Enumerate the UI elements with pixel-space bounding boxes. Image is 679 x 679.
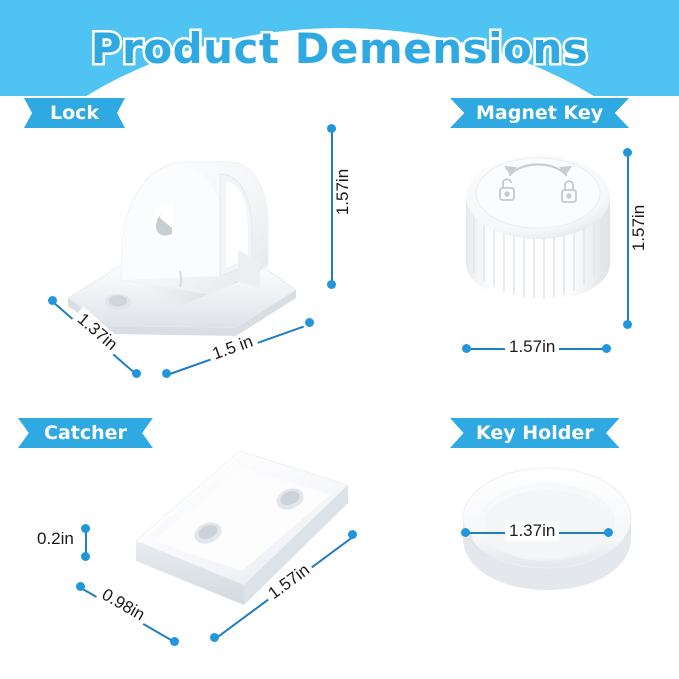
lock-width-dot-start [162,369,171,378]
lock-depth-dot-end [132,369,141,378]
key-holder-diameter-dot-left [461,528,470,537]
lock-product-image [60,130,310,330]
section-label-key-holder-text: Key Holder [476,422,594,444]
catcher-length-dot-start [210,633,219,642]
magnet-key-height-dot-top [623,148,632,157]
section-label-lock-text: Lock [50,102,99,124]
magnet-key-product-image [460,135,620,320]
magnet-key-diameter-dot-right [602,344,611,353]
product-dimensions-infographic: Product Demensions Lock Magnet Key Catch… [0,0,679,679]
catcher-thickness-label: 0.2in [33,529,78,549]
magnet-key-height-dot-bottom [623,320,632,329]
magnet-key-diameter-label: 1.57in [505,337,559,357]
lock-width-dot-end [305,318,314,327]
lock-height-label: 1.57in [333,165,353,219]
magnet-key-height-label: 1.57in [629,201,649,255]
page-title: Product Demensions [0,24,679,73]
section-label-key-holder: Key Holder [450,418,620,448]
catcher-thickness-dot-bottom [81,552,90,561]
catcher-width-dot-end [170,637,179,646]
catcher-length-dot-end [348,530,357,539]
catcher-width-dot-start [76,582,85,591]
lock-depth-dot-start [48,296,57,305]
section-label-magnet-key: Magnet Key [450,98,629,128]
catcher-thickness-dot-top [81,524,90,533]
magnet-key-diameter-dot-left [462,344,471,353]
key-holder-diameter-dot-right [604,528,613,537]
section-label-magnet-key-text: Magnet Key [476,102,603,124]
lock-height-dot-bottom [327,280,336,289]
key-holder-diameter-label: 1.37in [505,521,559,541]
section-label-catcher: Catcher [18,418,153,448]
lock-height-dot-top [327,124,336,133]
section-label-lock: Lock [24,98,125,128]
section-label-catcher-text: Catcher [44,422,127,444]
